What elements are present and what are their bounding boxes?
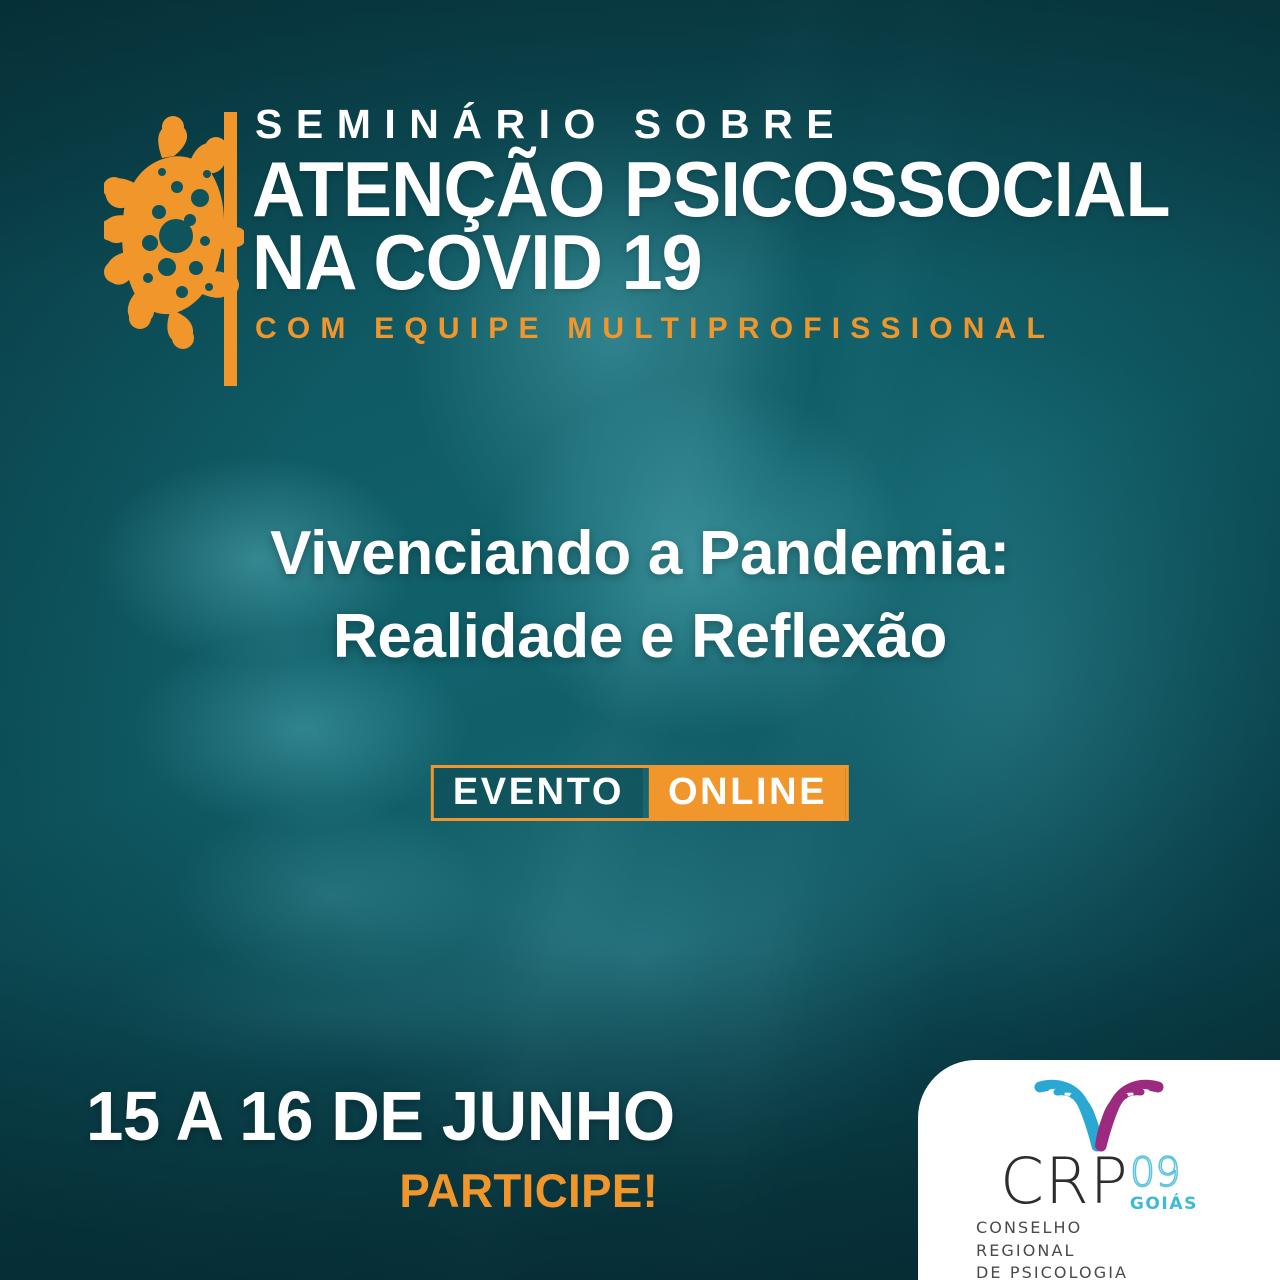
crp-state-label: GOIÁS [1130,1196,1198,1213]
poster-title: ATENÇÃO PSICOSSOCIAL NA COVID 19 [252,153,1206,298]
crp-region-number: 09 [1130,1153,1198,1193]
event-headline: Vivenciando a Pandemia: Realidade e Refl… [0,512,1280,678]
orange-vertical-rule [224,112,237,386]
crp-wave-mark [1024,1078,1174,1152]
badge-evento-label: EVENTO [434,768,643,818]
team-subkicker: COM EQUIPE MULTIPROFISSIONAL [255,314,1262,344]
seminar-kicker: SEMINÁRIO SOBRE [255,104,1262,145]
event-format-badge: EVENTO ONLINE [431,765,849,821]
header-block: SEMINÁRIO SOBRE ATENÇÃO PSICOSSOCIAL NA … [0,104,1280,394]
headline-line-2: Realidade e Reflexão [0,595,1280,678]
event-date-range: 15 A 16 DE JUNHO [86,1081,643,1151]
poster-title-line-2: NA COVID 19 [252,226,1206,299]
crp-logo-panel: CRP 09 GOIÁS CONSELHO REGIONAL DE PSICOL… [918,1060,1280,1280]
crp-region-number-group: 09 GOIÁS [1130,1153,1198,1213]
crp-name-line-3: DE PSICOLOGIA [976,1262,1128,1280]
crp-full-name: CONSELHO REGIONAL DE PSICOLOGIA [976,1217,1128,1280]
header-text-group: SEMINÁRIO SOBRE ATENÇÃO PSICOSSOCIAL NA … [252,104,1262,344]
badge-online-label: ONLINE [649,768,846,818]
virus-icon [104,112,244,352]
crp-acronym: CRP [1000,1150,1129,1213]
crp-wordmark: CRP 09 GOIÁS [1000,1150,1198,1213]
participate-call-to-action: PARTICIPE! [103,1167,666,1214]
headline-line-1: Vivenciando a Pandemia: [0,512,1280,595]
crp-name-line-1: CONSELHO [976,1217,1128,1240]
event-date-block: 15 A 16 DE JUNHO PARTICIPE! [86,1081,666,1214]
event-poster: SEMINÁRIO SOBRE ATENÇÃO PSICOSSOCIAL NA … [0,0,1280,1280]
crp-name-line-2: REGIONAL [976,1240,1128,1263]
